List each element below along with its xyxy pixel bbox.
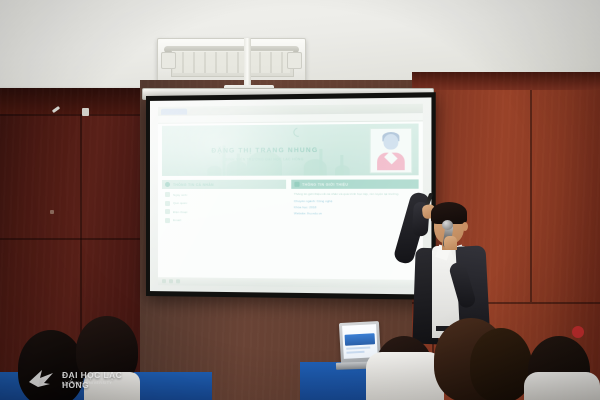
audience-shoulders bbox=[366, 352, 444, 400]
mail-icon bbox=[165, 218, 170, 223]
info-icon bbox=[294, 182, 299, 187]
browser-tab-3[interactable] bbox=[211, 108, 229, 114]
ac-corner-left bbox=[161, 52, 176, 69]
left-panel-list: Ngày sinh: Quê quán: Điện thoại: bbox=[162, 189, 286, 223]
watermark-name: ĐẠI HỌC LẠC HỒNG bbox=[62, 370, 144, 390]
microphone-head bbox=[442, 220, 453, 230]
list-item-label: Ngày sinh: bbox=[173, 192, 188, 196]
crescent-icon bbox=[291, 126, 304, 139]
presenter-forearm bbox=[412, 202, 430, 237]
watermark-subtitle: LAC HONG UNIVERSITY bbox=[62, 381, 112, 385]
left-info-panel: THÔNG TIN CÁ NHÂN Ngày sinh: Quê quán: bbox=[162, 180, 286, 227]
profile-banner: ĐẶNG THỊ TRANG NHUNG SINH VIÊN TRƯỜNG ĐẠ… bbox=[162, 123, 419, 175]
right-panel-title: THÔNG TIN GIỚI THIỆU bbox=[302, 182, 348, 186]
projected-webpage: ĐẶNG THỊ TRANG NHUNG SINH VIÊN TRƯỜNG ĐẠ… bbox=[158, 104, 423, 288]
wall-outlet-icon bbox=[50, 210, 54, 214]
profile-content-columns: THÔNG TIN CÁ NHÂN Ngày sinh: Quê quán: bbox=[162, 179, 419, 227]
audience-head bbox=[470, 328, 532, 400]
university-watermark: ĐẠI HỌC LẠC HỒNG LAC HONG UNIVERSITY bbox=[26, 366, 144, 392]
air-conditioner-icon bbox=[157, 38, 306, 82]
location-icon bbox=[165, 201, 170, 206]
browser-tab-2[interactable] bbox=[190, 108, 208, 114]
browser-address-bar[interactable] bbox=[158, 113, 423, 124]
taskbar-app-icon[interactable] bbox=[169, 279, 173, 283]
taskbar-app-icon[interactable] bbox=[162, 279, 166, 283]
presenter-mic-hand bbox=[444, 236, 457, 250]
ac-grille bbox=[173, 52, 290, 73]
list-item-label: Email: bbox=[173, 218, 182, 222]
os-taskbar[interactable]: 10:25 bbox=[158, 277, 423, 288]
list-item: Ngày sinh: bbox=[165, 192, 282, 197]
classroom-photo-scene: ĐẶNG THỊ TRANG NHUNG SINH VIÊN TRƯỜNG ĐẠ… bbox=[0, 0, 600, 400]
profile-name: ĐẶNG THỊ TRANG NHUNG bbox=[162, 147, 370, 155]
calendar-icon bbox=[165, 192, 170, 197]
browser-tab-active[interactable] bbox=[161, 108, 187, 114]
list-item-label: Quê quán: bbox=[173, 201, 188, 205]
list-item: Điện thoại: bbox=[165, 209, 282, 214]
list-item: Quê quán: bbox=[165, 201, 282, 206]
left-panel-title: THÔNG TIN CÁ NHÂN bbox=[173, 182, 214, 186]
left-panel-header: THÔNG TIN CÁ NHÂN bbox=[162, 180, 286, 189]
wall-sensor-icon bbox=[82, 108, 89, 116]
crane-bird-logo-icon bbox=[26, 367, 58, 389]
taskbar-apps[interactable] bbox=[162, 279, 180, 283]
list-item: Email: bbox=[165, 218, 282, 223]
hair-accessory-icon bbox=[572, 326, 584, 338]
portrait-face bbox=[383, 134, 398, 150]
presenter-ear bbox=[462, 222, 468, 231]
laptop-banner bbox=[345, 333, 376, 346]
screen-surface: ĐẶNG THỊ TRANG NHUNG SINH VIÊN TRƯỜNG ĐẠ… bbox=[150, 97, 431, 294]
audience-shoulders bbox=[524, 372, 600, 400]
ac-corner-right bbox=[287, 52, 302, 69]
taskbar-app-icon[interactable] bbox=[176, 279, 180, 283]
profile-subtitle: SINH VIÊN TRƯỜNG ĐẠI HỌC LẠC HỒNG bbox=[162, 157, 370, 162]
list-item-label: Điện thoại: bbox=[173, 210, 188, 214]
user-circle-icon bbox=[165, 182, 170, 187]
profile-portrait-photo bbox=[370, 128, 412, 174]
phone-icon bbox=[165, 209, 170, 214]
